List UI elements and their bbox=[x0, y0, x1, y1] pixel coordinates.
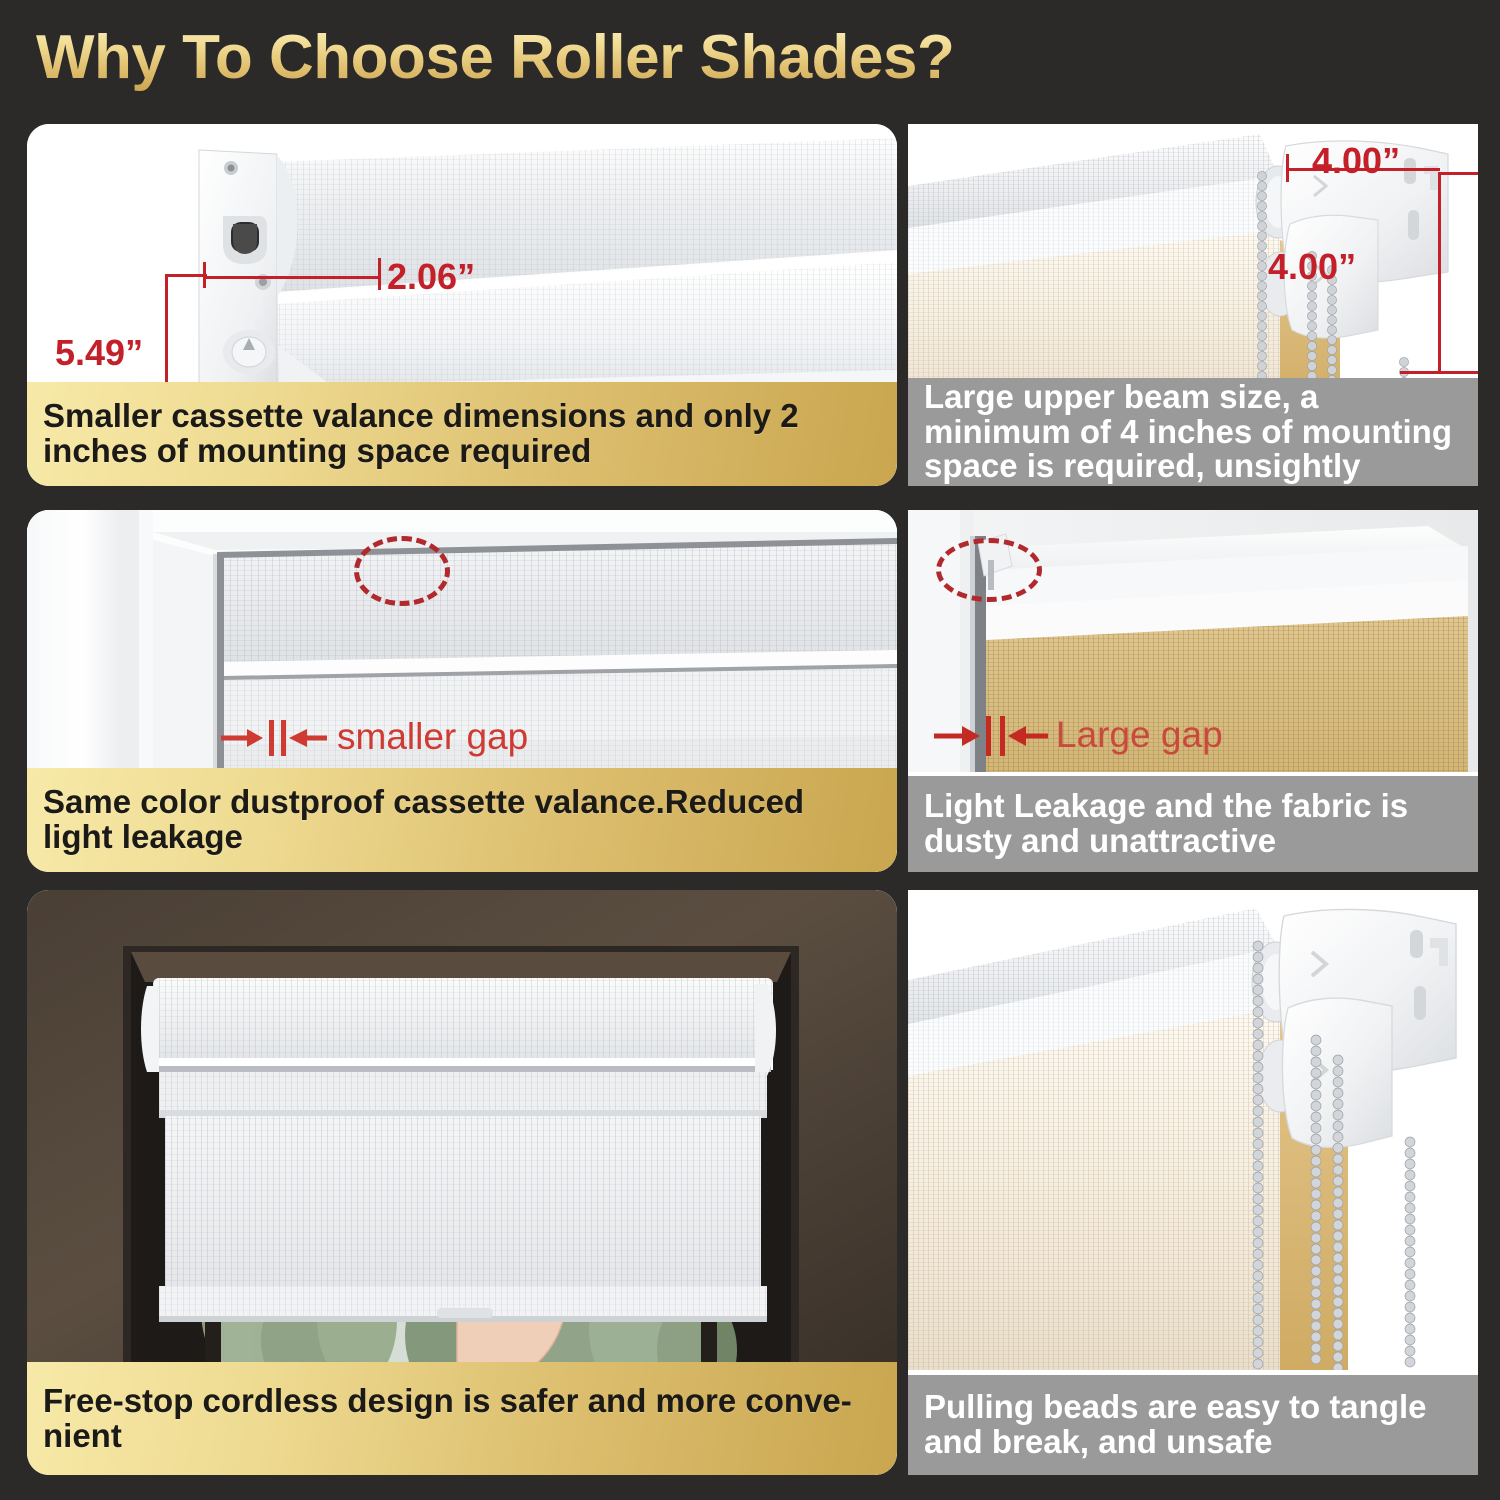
light-gap-highlight-ellipse bbox=[936, 538, 1042, 602]
width-dimension-line bbox=[203, 276, 381, 279]
bead-chain-front bbox=[1257, 171, 1266, 399]
panel-light-leakage-dusty-fabric: Large gap Light Leakage and the fabric i… bbox=[908, 510, 1478, 872]
panel-5-caption-bar: Free-stop cordless design is safer and m… bbox=[27, 1362, 897, 1475]
panel-free-stop-cordless-design: Free-stop cordless design is safer and m… bbox=[27, 890, 897, 1475]
beam-height-dimension-label: 4.00” bbox=[1268, 246, 1356, 288]
panel-3-caption-text: Same color dustproof cassette valance.Re… bbox=[27, 785, 897, 855]
beam-width-tick-left bbox=[1286, 154, 1289, 182]
room-window-shade-illustration bbox=[27, 890, 897, 1368]
large-gap-label: Large gap bbox=[1056, 714, 1223, 756]
panel-5-caption-text: Free-stop cordless design is safer and m… bbox=[27, 1384, 897, 1454]
bead-chain-middle-long bbox=[1311, 1035, 1321, 1364]
bead-chain-front-long bbox=[1253, 941, 1263, 1369]
panel-cassette-valance-dimensions: 5.49” 2.06” Smaller cassette valance dim… bbox=[27, 124, 897, 486]
beam-height-dimension-line bbox=[1438, 172, 1441, 374]
page-title: Why To Choose Roller Shades? bbox=[36, 22, 954, 93]
bead-chain-right-long bbox=[1405, 1137, 1415, 1367]
panel-2-caption-bar: Large upper beam size, a minimum of 4 in… bbox=[908, 378, 1478, 486]
panel-dustproof-cassette-valance: smaller gap Same color dustproof cassett… bbox=[27, 510, 897, 872]
width-dimension-label: 2.06” bbox=[387, 256, 475, 298]
valance-seam-highlight bbox=[354, 536, 450, 606]
panel-6-caption-bar: Pulling beads are easy to tangle and bre… bbox=[908, 1375, 1478, 1475]
panel-2-caption-text: Large upper beam size, a minimum of 4 in… bbox=[908, 380, 1478, 485]
height-dimension-label: 5.49” bbox=[55, 332, 143, 374]
panel-1-caption-bar: Smaller cassette valance dimensions and … bbox=[27, 382, 897, 486]
beam-height-tick-bottom bbox=[1400, 371, 1478, 374]
beam-height-tick-top bbox=[1438, 172, 1478, 175]
panel-upper-beam-size: 4.00” 4.00” Large upper beam size, a min… bbox=[908, 124, 1478, 486]
infographic-page: Why To Choose Roller Shades? bbox=[0, 0, 1500, 1500]
width-dimension-tick-right bbox=[378, 258, 381, 290]
panel-6-caption-text: Pulling beads are easy to tangle and bre… bbox=[908, 1390, 1478, 1460]
smaller-gap-label: smaller gap bbox=[337, 716, 528, 758]
bead-chain-group-bottom bbox=[908, 890, 1478, 1370]
panel-4-caption-text: Light Leakage and the fabric is dusty an… bbox=[908, 789, 1478, 859]
beam-width-dimension-label: 4.00” bbox=[1312, 140, 1400, 182]
height-dimension-tick-top bbox=[165, 274, 207, 277]
width-dimension-tick-left bbox=[203, 262, 206, 288]
panel-4-caption-bar: Light Leakage and the fabric is dusty an… bbox=[908, 776, 1478, 872]
bead-chain-back-long bbox=[1333, 1055, 1343, 1370]
panel-pulling-beads-tangle: Pulling beads are easy to tangle and bre… bbox=[908, 890, 1478, 1475]
panel-1-caption-text: Smaller cassette valance dimensions and … bbox=[27, 399, 897, 469]
panel-3-caption-bar: Same color dustproof cassette valance.Re… bbox=[27, 768, 897, 872]
